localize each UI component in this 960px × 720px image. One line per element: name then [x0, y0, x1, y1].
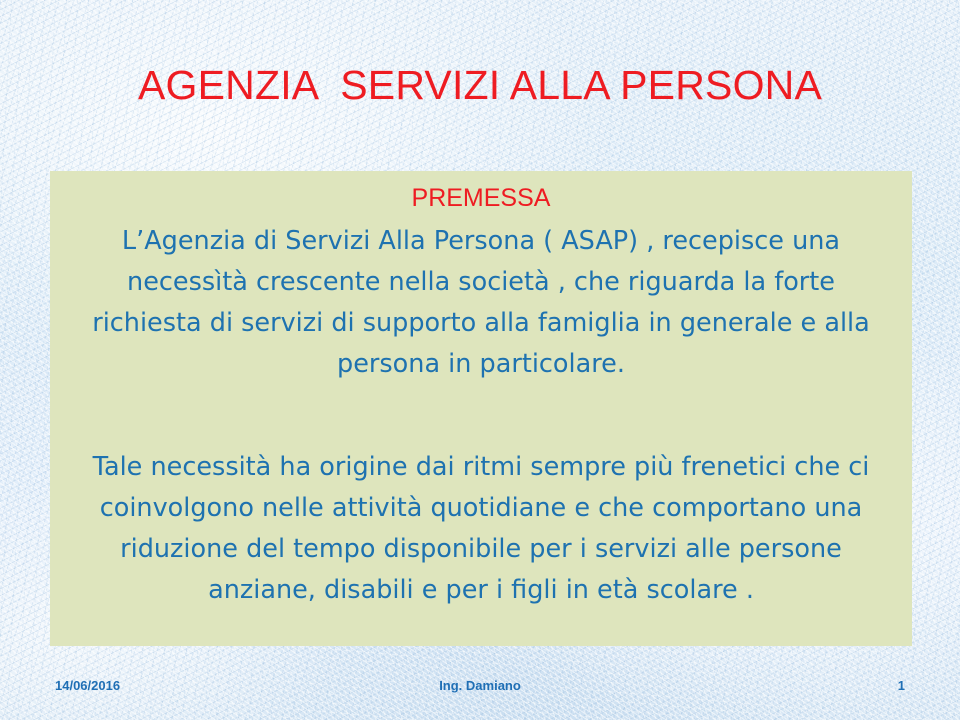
footer-page-number: 1	[0, 676, 960, 696]
body-paragraph-2: Tale necessità ha origine dai ritmi semp…	[66, 447, 896, 611]
presentation-slide: AGENZIA SERVIZI ALLA PERSONA PREMESSA L’…	[0, 0, 960, 720]
content-box: PREMESSA L’Agenzia di Servizi Alla Perso…	[50, 171, 912, 646]
body-paragraph-1: L’Agenzia di Servizi Alla Persona ( ASAP…	[66, 221, 896, 385]
paragraph-spacer	[66, 385, 896, 447]
slide-footer: 14/06/2016 Ing. Damiano 1	[0, 676, 960, 702]
page-title: AGENZIA SERVIZI ALLA PERSONA	[0, 61, 960, 109]
section-heading-premessa: PREMESSA	[66, 181, 896, 215]
